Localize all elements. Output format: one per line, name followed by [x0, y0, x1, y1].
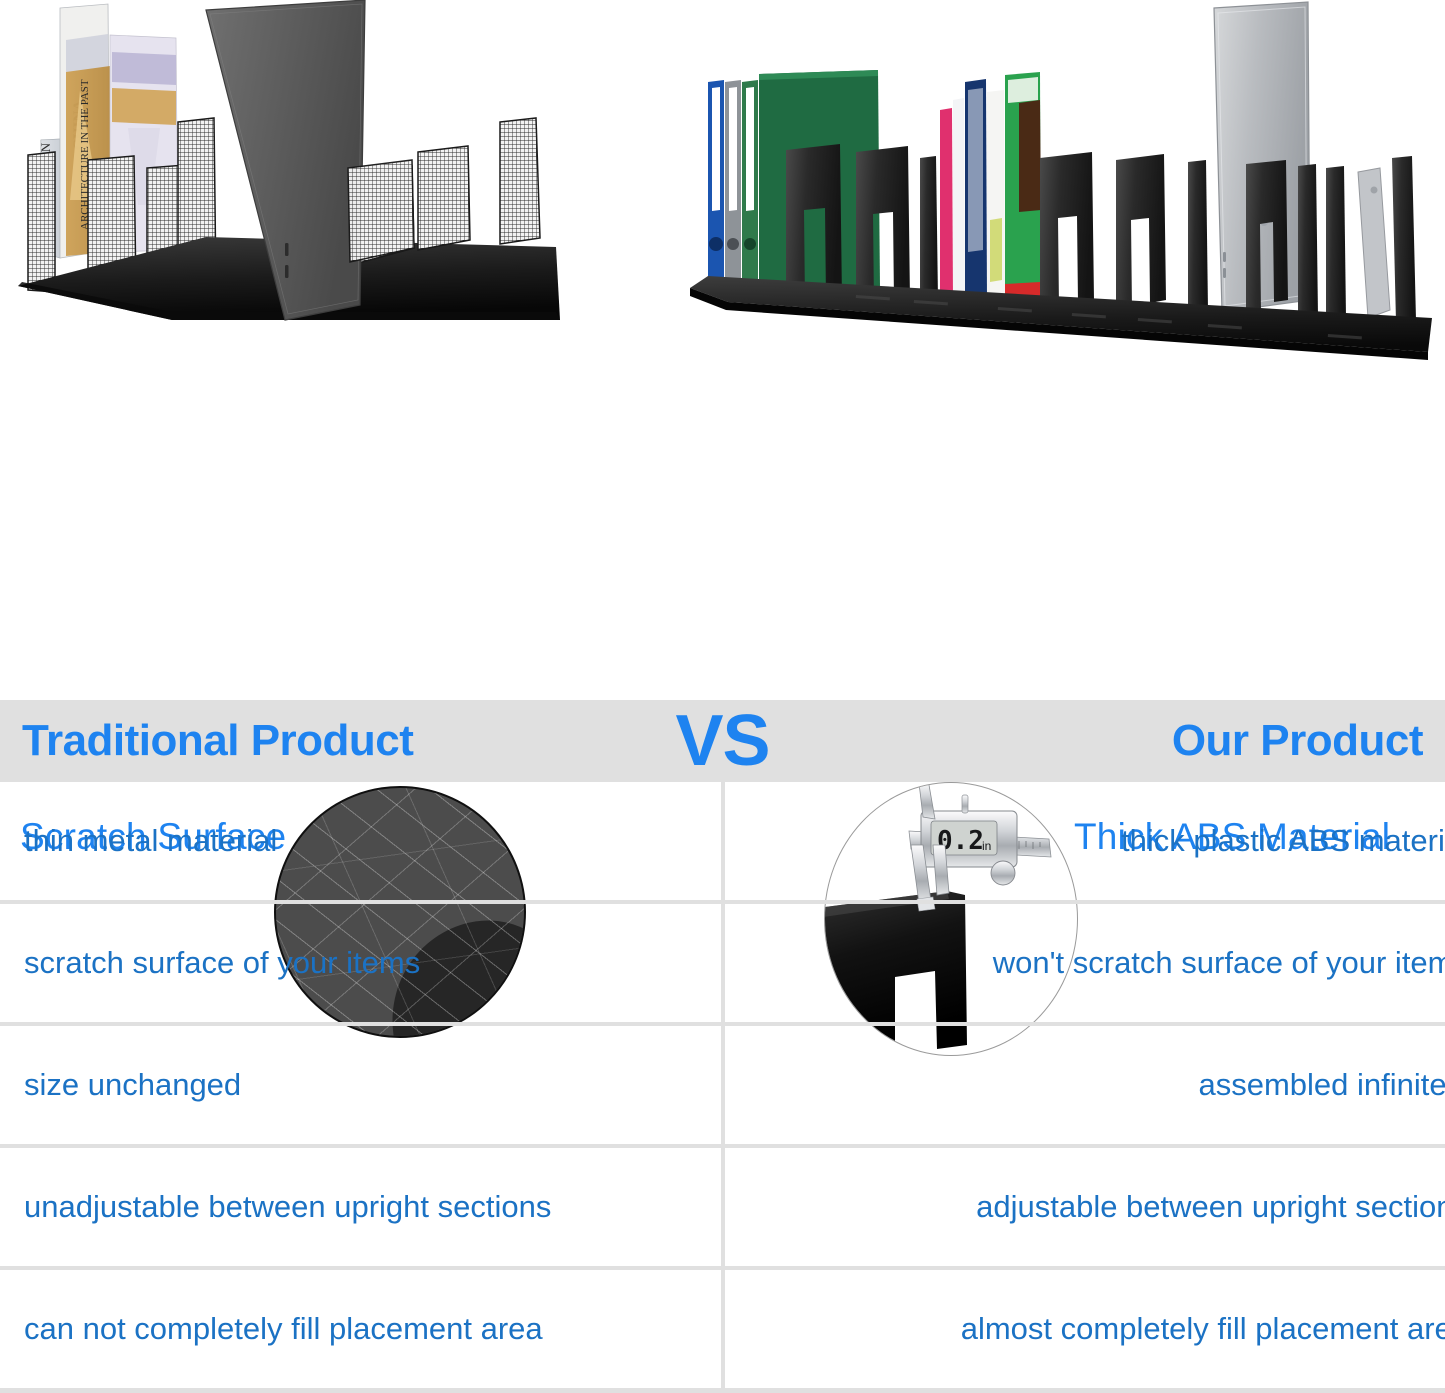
- silver-laptop: [1214, 2, 1310, 312]
- our-cell: almost completely fill placement area: [747, 1270, 1445, 1388]
- our-cell: adjustable between upright sections: [747, 1148, 1445, 1266]
- table-row: scratch surface of your items won't scra…: [0, 904, 1445, 1026]
- header-our-product: Our Product: [1172, 700, 1423, 782]
- comparison-table: Traditional Product VS Our Product thin …: [0, 700, 1445, 1393]
- comparison-table-header: Traditional Product VS Our Product: [0, 700, 1445, 782]
- table-row: size unchanged assembled infinitely: [0, 1026, 1445, 1148]
- table-row: thin metal material thick plastic ABS ma…: [0, 782, 1445, 904]
- our-cell: thick plastic ABS material: [747, 782, 1445, 900]
- header-traditional-product: Traditional Product: [22, 700, 413, 782]
- traditional-cell: scratch surface of your items: [0, 904, 747, 1022]
- our-cell: won't scratch surface of your items: [747, 904, 1445, 1022]
- abs-organizer-illustration: [668, 0, 1445, 380]
- our-cell: assembled infinitely: [747, 1026, 1445, 1144]
- detail-callout-band: Scratch Surface: [0, 388, 1445, 688]
- silver-tablet: [1358, 168, 1390, 318]
- table-row: can not completely fill placement area a…: [0, 1270, 1445, 1393]
- traditional-cell: size unchanged: [0, 1026, 747, 1144]
- traditional-cell: thin metal material: [0, 782, 747, 900]
- table-row: unadjustable between upright sections ad…: [0, 1148, 1445, 1270]
- mesh-divider: [500, 118, 540, 244]
- traditional-organizer-illustration: CHINA GREEN CHINA ARCHITECTURE IN THE PA…: [0, 0, 600, 345]
- traditional-cell: unadjustable between upright sections: [0, 1148, 747, 1266]
- our-product-photo: [668, 0, 1445, 380]
- books-group: [940, 72, 1041, 302]
- traditional-cell: can not completely fill placement area: [0, 1270, 747, 1388]
- comparison-table-body: thin metal material thick plastic ABS ma…: [0, 782, 1445, 1393]
- mesh-divider: [418, 146, 470, 250]
- product-photo-strip: CHINA GREEN CHINA ARCHITECTURE IN THE PA…: [0, 0, 1445, 390]
- traditional-product-photo: CHINA GREEN CHINA ARCHITECTURE IN THE PA…: [0, 0, 600, 345]
- mesh-divider: [28, 152, 55, 292]
